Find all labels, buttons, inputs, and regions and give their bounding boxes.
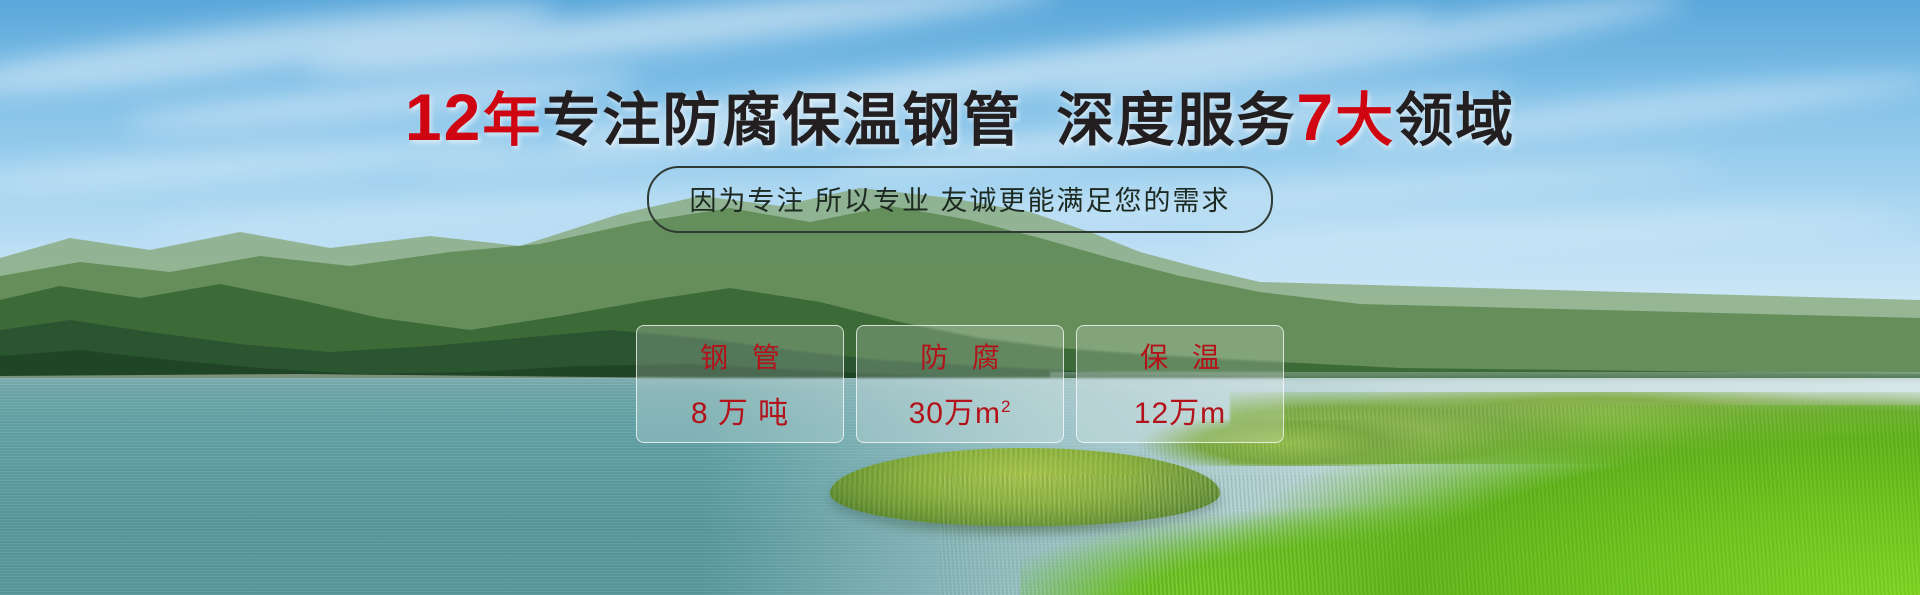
stat-card-value: 12万m: [1134, 388, 1226, 432]
stat-card-title: 保 温: [1132, 336, 1228, 376]
stat-card-title: 防 腐: [912, 336, 1008, 376]
stat-card-value: 30万m2: [909, 388, 1012, 432]
subtitle-pill: 因为专注 所以专业 友诚更能满足您的需求: [647, 166, 1272, 233]
headline-main-text: 专注防腐保温钢管: [542, 88, 1022, 153]
headline: 12年专注防腐保温钢管深度服务7大领域: [0, 84, 1920, 150]
headline-years-unit: 年: [482, 88, 542, 153]
stat-cards: 钢 管 8 万 吨 防 腐 30万m2 保 温 12万m: [0, 325, 1920, 443]
stat-card-insulation[interactable]: 保 温 12万m: [1076, 325, 1284, 443]
stat-card-value-text: 30万m: [909, 397, 1001, 430]
headline-fields-text: 领域: [1395, 88, 1515, 153]
headline-service-text: 深度服务: [1056, 88, 1296, 153]
subtitle-container: 因为专注 所以专业 友诚更能满足您的需求: [0, 166, 1920, 233]
headline-fields-number: 7: [1296, 80, 1335, 154]
stat-card-value-text: 8 万 吨: [691, 397, 789, 430]
stat-card-value: 8 万 吨: [691, 388, 789, 432]
hero-banner: 12年专注防腐保温钢管深度服务7大领域 因为专注 所以专业 友诚更能满足您的需求…: [0, 0, 1920, 595]
stat-card-value-text: 12万m: [1134, 397, 1226, 430]
headline-fields-unit: 大: [1335, 88, 1395, 153]
stat-card-steel-pipe[interactable]: 钢 管 8 万 吨: [636, 325, 844, 443]
stat-card-anticorrosion[interactable]: 防 腐 30万m2: [856, 325, 1064, 443]
headline-years-number: 12: [405, 80, 482, 154]
stat-card-value-superscript: 2: [1001, 397, 1011, 416]
stat-card-title: 钢 管: [692, 336, 788, 376]
